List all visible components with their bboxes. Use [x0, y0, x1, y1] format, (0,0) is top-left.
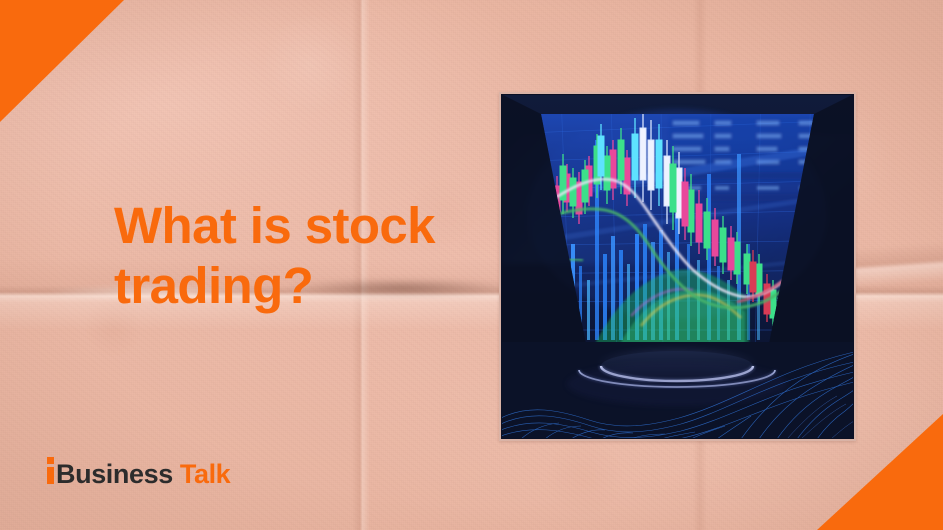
logo-i-dot [47, 457, 54, 464]
hero-image-inner [501, 94, 854, 439]
logo-i-stem [47, 467, 54, 484]
logo-i-icon [47, 456, 56, 483]
logo-word-business: Business [56, 459, 173, 490]
logo-word-talk: Talk [180, 459, 230, 490]
stock-chart-hologram-graphic [501, 94, 854, 439]
page-title-line-2: trading? [114, 256, 514, 316]
slide-canvas: What is stock trading? Business Talk [0, 0, 943, 530]
hero-image [499, 92, 856, 441]
brand-logo[interactable]: Business Talk [47, 456, 230, 490]
page-title: What is stock trading? [114, 196, 514, 315]
page-title-line-1: What is stock [114, 197, 435, 254]
